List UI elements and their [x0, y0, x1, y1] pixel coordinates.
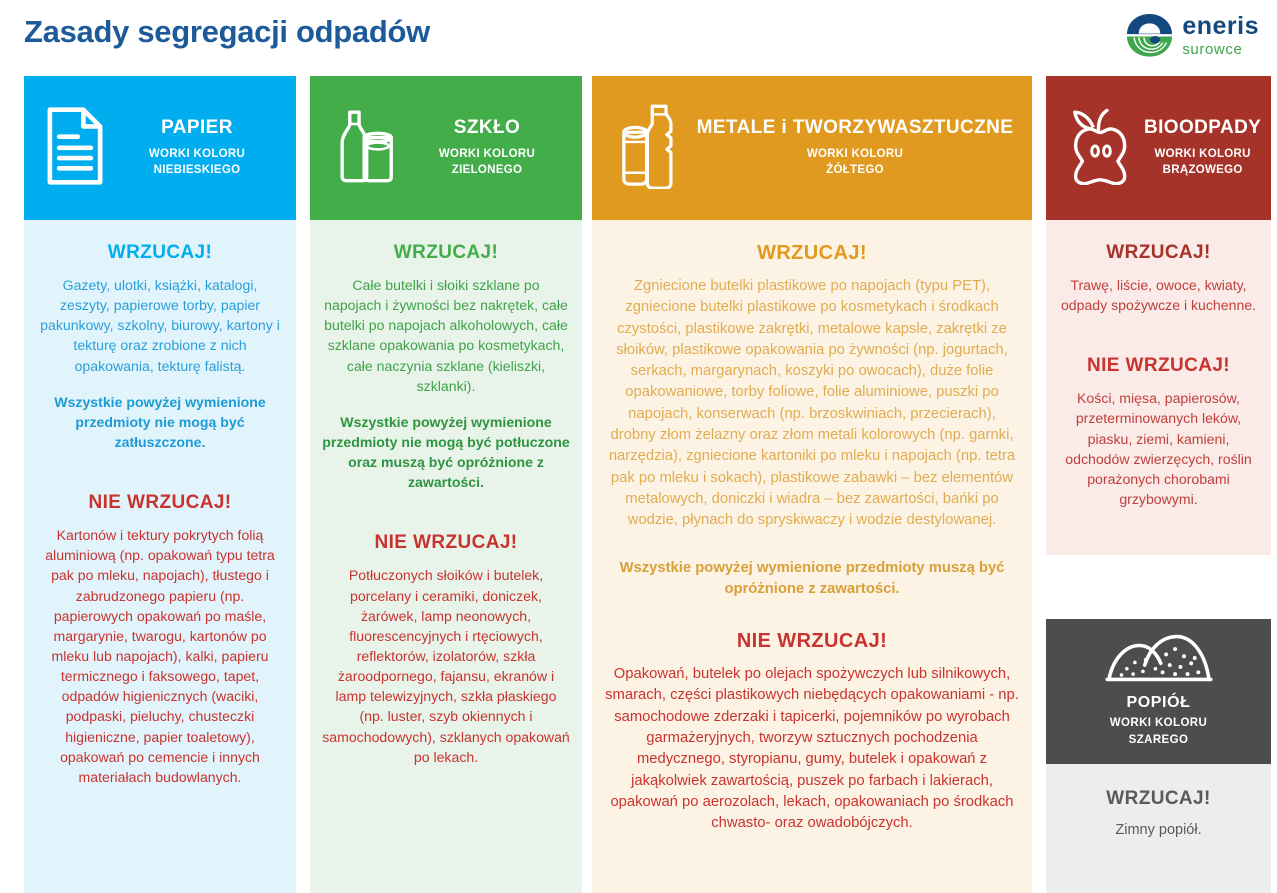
accept-heading-szklo: WRZUCAJ! — [322, 242, 570, 264]
category-header-popiol: POPIÓŁ WORKI KOLORU SZAREGO — [1046, 619, 1271, 764]
can-and-pet-bottle-icon — [614, 103, 684, 194]
reject-heading-szklo: NIE WRZUCAJ! — [322, 532, 570, 554]
category-body-szklo: WRZUCAJ! Całe butelki i słoiki szklane p… — [310, 220, 582, 893]
category-subtitle-line2-metale: ŻÓŁTEGO — [826, 164, 884, 176]
accept-heading-popiol: WRZUCAJ! — [1056, 788, 1261, 810]
category-subtitle-line1-papier: WORKI KOLORU — [149, 148, 245, 160]
reject-heading-papier: NIE WRZUCAJ! — [36, 492, 284, 514]
category-header-bioodpady: BIOODPADY WORKI KOLORU BRĄZOWEGO — [1046, 76, 1271, 220]
reject-heading-bioodpady: NIE WRZUCAJ! — [1058, 355, 1259, 377]
brand-logo: eneris surowce — [1126, 13, 1259, 58]
accept-note-papier: Wszystkie powyżej wymienione przedmioty … — [36, 392, 284, 452]
paper-sheet-icon — [46, 106, 104, 191]
page-title: Zasady segregacji odpadów — [24, 14, 430, 50]
category-subtitle-line2-bioodpady: BRĄZOWEGO — [1163, 164, 1243, 176]
category-subtitle-line1-metale: WORKI KOLORU — [807, 148, 903, 160]
accept-heading-metale: WRZUCAJ! — [604, 242, 1020, 265]
category-title-metale: METALE i TWORZYWASZTUCZNE — [697, 117, 1014, 138]
category-body-papier: WRZUCAJ! Gazety, ulotki, książki, katalo… — [24, 220, 296, 893]
reject-text-bioodpady: Kości, mięsa, papierosów, przeterminowan… — [1058, 388, 1259, 509]
waste-categories-board: PAPIER WORKI KOLORU NIEBIESKIEGO WRZUCAJ… — [0, 76, 1277, 893]
category-subtitle-line2-popiol: SZAREGO — [1129, 734, 1189, 746]
category-header-metale: METALE i TWORZYWASZTUCZNE WORKI KOLORU Ż… — [592, 76, 1032, 220]
category-body-metale: WRZUCAJ! Zgniecione butelki plastikowe p… — [592, 220, 1032, 893]
ash-pile-icon — [1105, 670, 1213, 687]
category-header-szklo: SZKŁO WORKI KOLORU ZIELONEGO — [310, 76, 582, 220]
category-subtitle-line1-popiol: WORKI KOLORU — [1110, 717, 1207, 729]
accept-heading-bioodpady: WRZUCAJ! — [1058, 242, 1259, 264]
category-subtitle-line2-papier: NIEBIESKIEGO — [154, 164, 241, 176]
accept-note-metale: Wszystkie powyżej wymienione przedmioty … — [604, 558, 1020, 601]
reject-text-metale: Opakowań, butelek po olejach spożywczych… — [604, 664, 1020, 834]
category-column-papier: PAPIER WORKI KOLORU NIEBIESKIEGO WRZUCAJ… — [24, 76, 296, 893]
category-subtitle-line1-bioodpady: WORKI KOLORU — [1155, 148, 1251, 160]
category-title-szklo: SZKŁO — [454, 117, 520, 138]
category-header-papier: PAPIER WORKI KOLORU NIEBIESKIEGO — [24, 76, 296, 220]
category-title-papier: PAPIER — [161, 117, 233, 138]
apple-core-icon — [1068, 107, 1134, 190]
category-subtitle-line1-szklo: WORKI KOLORU — [439, 148, 535, 160]
category-subtitle-line2-szklo: ZIELONEGO — [452, 164, 522, 176]
accept-text-szklo: Całe butelki i słoiki szklane po napojac… — [322, 275, 570, 396]
category-title-popiol: POPIÓŁ — [1054, 694, 1263, 712]
accept-text-papier: Gazety, ulotki, książki, katalogi, zeszy… — [36, 275, 284, 376]
category-body-bioodpady: WRZUCAJ! Trawę, liście, owoce, kwiaty, o… — [1046, 220, 1271, 555]
accept-note-szklo: Wszystkie powyżej wymienione przedmioty … — [322, 412, 570, 493]
brand-name: eneris — [1182, 14, 1259, 39]
accept-text-popiol: Zimny popiół. — [1056, 820, 1261, 841]
accept-text-metale: Zgniecione butelki plastikowe po napojac… — [604, 276, 1020, 532]
reject-text-szklo: Potłuczonych słoików i butelek, porcelan… — [322, 565, 570, 766]
bottle-and-jar-icon — [332, 107, 398, 190]
reject-heading-metale: NIE WRZUCAJ! — [604, 630, 1020, 653]
category-title-bioodpady: BIOODPADY — [1144, 117, 1261, 138]
category-column-szklo: SZKŁO WORKI KOLORU ZIELONEGO WRZUCAJ! Ca… — [310, 76, 582, 893]
accept-text-bioodpady: Trawę, liście, owoce, kwiaty, odpady spo… — [1058, 275, 1259, 315]
category-column-popiol: POPIÓŁ WORKI KOLORU SZAREGO WRZUCAJ! Zim… — [1046, 619, 1271, 893]
category-column-metale: METALE i TWORZYWASZTUCZNE WORKI KOLORU Ż… — [592, 76, 1032, 893]
category-column-bioodpady: BIOODPADY WORKI KOLORU BRĄZOWEGO WRZUCAJ… — [1046, 76, 1271, 555]
eneris-logo-icon — [1126, 13, 1173, 58]
brand-subtitle: surowce — [1182, 42, 1259, 57]
accept-heading-papier: WRZUCAJ! — [36, 242, 284, 264]
category-body-popiol: WRZUCAJ! Zimny popiół. — [1046, 764, 1271, 893]
page-header: Zasady segregacji odpadów eneris surowce — [0, 0, 1277, 76]
reject-text-papier: Kartonów i tektury pokrytych folią alumi… — [36, 525, 284, 787]
